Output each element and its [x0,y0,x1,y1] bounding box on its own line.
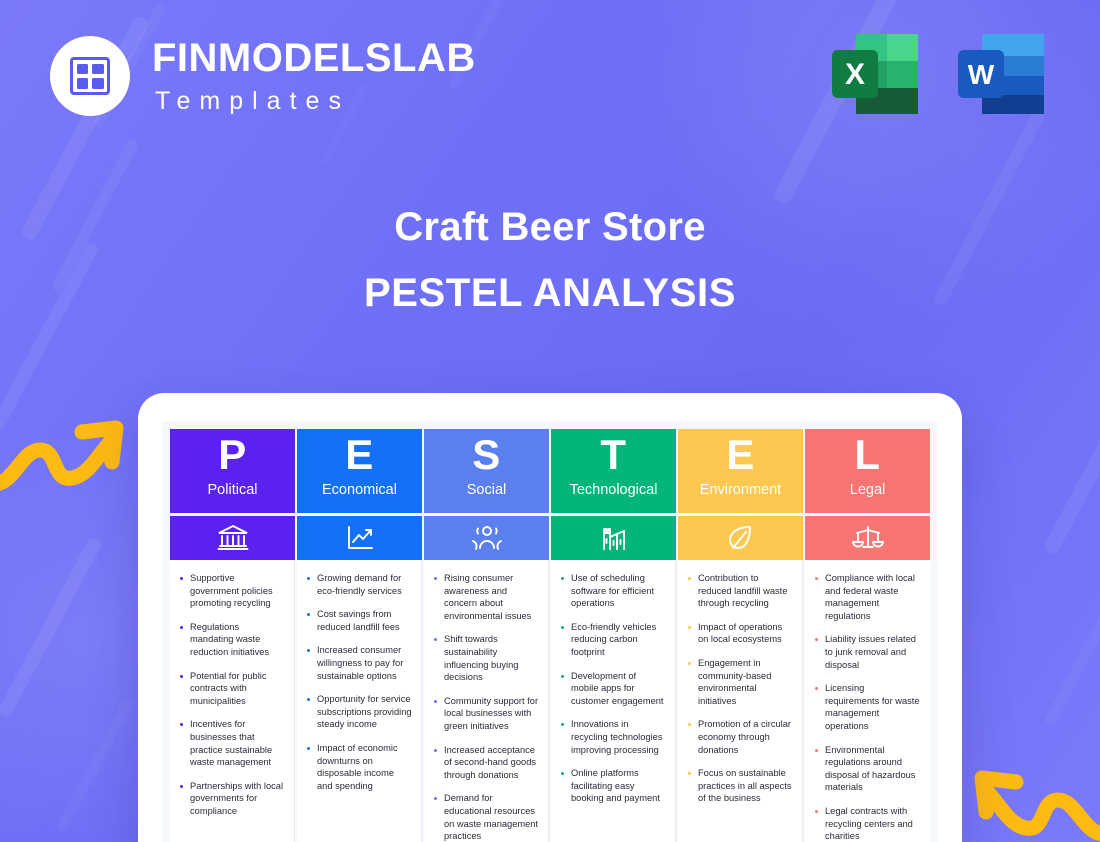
svg-text:X: X [845,58,865,91]
page-title-block: Craft Beer Store PESTEL ANALYSIS [0,205,1100,315]
excel-icon: X [826,26,924,122]
page-subtitle: PESTEL ANALYSIS [0,271,1100,315]
list-item: Regulations mandating waste reduction in… [177,621,285,659]
column-letter: E [726,431,755,479]
poster-canvas: FINMODELSLAB Templates X [0,0,1100,842]
list-item: Impact of operations on local ecosystems [685,621,793,646]
squiggle-arrow-down-left-icon [971,748,1100,842]
column-name: Political [208,481,258,499]
list-item: Cost savings from reduced landfill fees [304,608,412,633]
device-screen: P Political Supportive governme [162,421,938,842]
bullet-list: Rising consumer awareness and concern ab… [431,572,539,842]
brand-tagline: Templates [152,89,476,114]
list-item: Incentives for businesses that practice … [177,718,285,768]
pestel-column-technological: T Technological [551,429,676,842]
list-item: Community support for local businesses w… [431,695,539,733]
government-building-icon [170,516,295,560]
list-item: Increased acceptance of second-hand good… [431,744,539,782]
brush-stroke [1043,563,1100,727]
list-item: Focus on sustainable practices in all as… [685,767,793,805]
brush-stroke [1042,319,1100,556]
bullet-list: Compliance with local and federal waste … [812,572,921,842]
leaf-icon [678,516,803,560]
pestel-column-environment: E Environment Contribution to reduced la… [678,429,803,842]
svg-text:W: W [968,59,995,90]
format-icons: X W [826,26,1050,122]
brush-stroke [55,696,134,833]
pestel-column-economical: E Economical Growing demand for eco-frie… [297,429,422,842]
page-title: Craft Beer Store [0,205,1100,249]
list-item: Contribution to reduced landfill waste t… [685,572,793,610]
list-item: Growing demand for eco-friendly services [304,572,412,597]
column-content-technological: Use of scheduling software for efficient… [551,560,676,842]
column-header-economical: E Economical [297,429,422,513]
list-item: Innovations in recycling technologies im… [558,718,666,756]
column-content-economical: Growing demand for eco-friendly services… [297,560,422,842]
list-item: Development of mobile apps for customer … [558,670,666,708]
list-item: Environmental regulations around disposa… [812,744,921,794]
bullet-list: Use of scheduling software for efficient… [558,572,666,805]
pestel-column-legal: L Legal [805,429,930,842]
list-item: Opportunity for service subscriptions pr… [304,693,412,731]
list-item: Promotion of a circular economy through … [685,718,793,756]
list-item: Use of scheduling software for efficient… [558,572,666,610]
column-header-environment: E Environment [678,429,803,513]
column-letter: T [600,431,626,479]
list-item: Online platforms facilitating easy booki… [558,767,666,805]
list-item: Increased consumer willingness to pay fo… [304,644,412,682]
column-name: Technological [570,481,658,499]
list-item: Potential for public contracts with muni… [177,670,285,708]
pestel-column-social: S Social [424,429,549,842]
list-item: Compliance with local and federal waste … [812,572,921,622]
bullet-list: Growing demand for eco-friendly services… [304,572,412,792]
pestel-column-political: P Political Supportive governme [170,429,295,842]
column-header-legal: L Legal [805,429,930,513]
list-item: Rising consumer awareness and concern ab… [431,572,539,622]
column-header-political: P Political [170,429,295,513]
list-item: Impact of economic downturns on disposab… [304,742,412,792]
brand-name: FINMODELSLAB [152,38,476,78]
brand-logo: FINMODELSLAB Templates [50,36,476,116]
list-item: Eco-friendly vehicles reducing carbon fo… [558,621,666,659]
list-item: Licensing requirements for waste managem… [812,682,921,732]
column-content-legal: Compliance with local and federal waste … [805,560,930,842]
list-item: Supportive government policies promoting… [177,572,285,610]
factory-icon [551,516,676,560]
list-item: Liability issues related to junk removal… [812,633,921,671]
column-name: Social [467,481,507,499]
column-letter: E [345,431,374,479]
list-item: Engagement in community-based environmen… [685,657,793,707]
list-item: Shift towards sustainability influencing… [431,633,539,683]
line-chart-icon [297,516,422,560]
column-content-environment: Contribution to reduced landfill waste t… [678,560,803,842]
pestel-matrix: P Political Supportive governme [170,429,930,842]
bullet-list: Supportive government policies promoting… [177,572,285,818]
column-content-political: Supportive government policies promoting… [170,560,295,842]
column-name: Economical [322,481,397,499]
column-name: Environment [700,481,781,499]
column-letter: L [854,431,880,479]
column-header-technological: T Technological [551,429,676,513]
word-icon: W [952,26,1050,122]
squiggle-arrow-up-right-icon [0,398,127,498]
list-item: Partnerships with local governments for … [177,780,285,818]
bullet-list: Contribution to reduced landfill waste t… [685,572,793,805]
people-group-icon [424,516,549,560]
column-header-social: S Social [424,429,549,513]
column-letter: S [472,431,501,479]
column-content-social: Rising consumer awareness and concern ab… [424,560,549,842]
list-item: Legal contracts with recycling centers a… [812,805,921,842]
grid-logo-icon [50,36,130,116]
column-name: Legal [850,481,885,499]
list-item: Demand for educational resources on wast… [431,792,539,842]
brush-stroke [0,535,103,718]
device-frame: P Political Supportive governme [138,393,962,842]
scales-of-justice-icon [805,516,930,560]
column-letter: P [218,431,247,479]
